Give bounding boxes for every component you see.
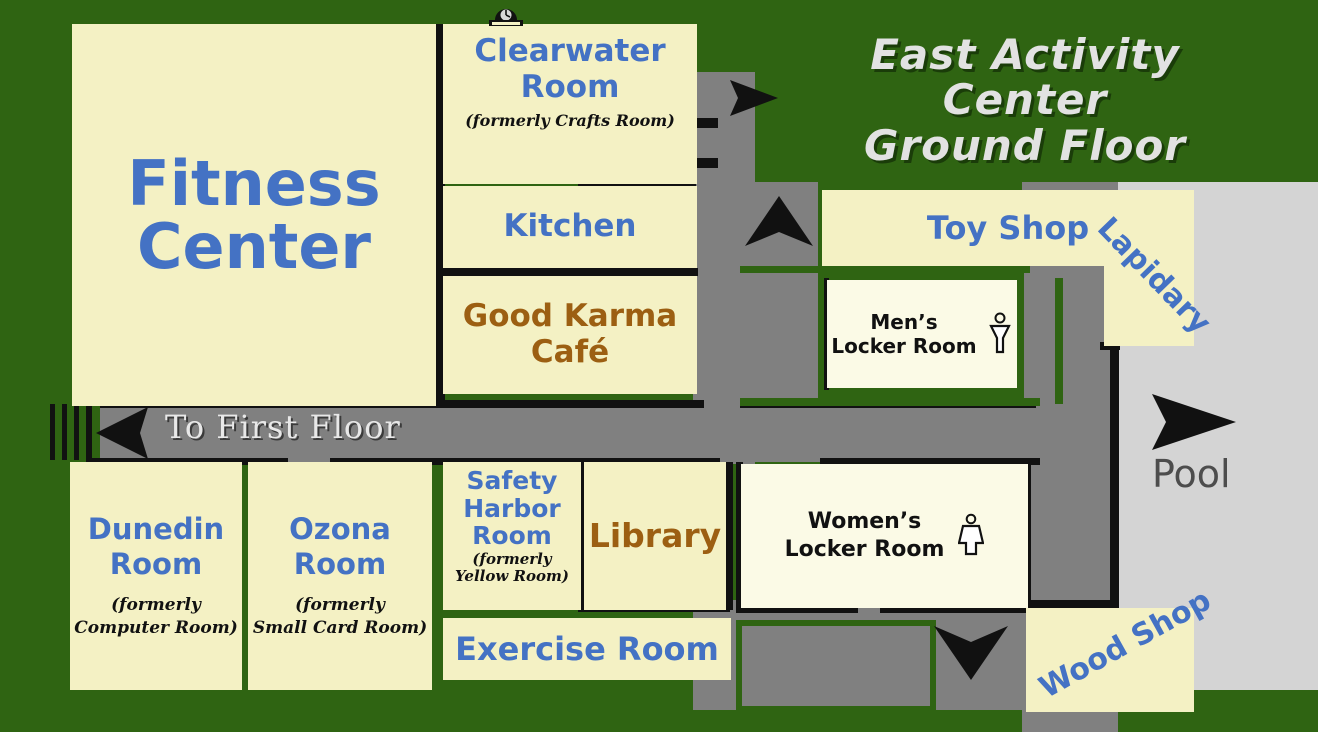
room-exercise[interactable]: Exercise Room bbox=[443, 618, 731, 680]
arrow-down-icon bbox=[934, 622, 1008, 680]
room-label-toy-shop: Toy Shop bbox=[927, 212, 1089, 245]
divider-green-south-bay bbox=[736, 620, 742, 712]
room-fitness-center[interactable]: Fitness Center bbox=[72, 24, 436, 406]
room-label-mens-line2: Locker Room bbox=[831, 336, 976, 356]
room-label-safety-line3: Room bbox=[472, 523, 552, 549]
room-label-womens-line1: Women’s bbox=[785, 511, 945, 533]
pool-label: Pool bbox=[1152, 452, 1231, 496]
divider-green-mens-right bbox=[1016, 272, 1024, 404]
floor-plan-map: Fitness Center Clearwater Room (formerly… bbox=[0, 0, 1318, 732]
map-title: East Activity Center Ground Floor bbox=[800, 32, 1250, 168]
clock-icon bbox=[487, 2, 525, 26]
room-sublabel-ozona-line1: (formerly bbox=[295, 597, 385, 614]
wall-woodshop-top bbox=[1022, 600, 1118, 608]
divider-green-lockers-col bbox=[1055, 278, 1063, 404]
room-mens-locker[interactable]: Men’s Locker Room bbox=[827, 280, 1017, 388]
room-label-clearwater-line1: Clearwater bbox=[474, 36, 665, 68]
divider-green-toyshop-bottom bbox=[740, 266, 1030, 273]
room-label-library: Library bbox=[589, 519, 721, 553]
map-title-line1: East Activity Center bbox=[800, 32, 1250, 123]
wall-library-right bbox=[726, 462, 733, 610]
stair-stroke-2 bbox=[62, 404, 67, 460]
room-label-clearwater-line2: Room bbox=[521, 72, 620, 104]
room-label-ozona-line1: Ozona bbox=[289, 515, 391, 545]
arrow-up-icon bbox=[745, 196, 813, 252]
divider-green-south-bay-top bbox=[736, 620, 936, 626]
corridor-label-to-first-floor: To First Floor bbox=[165, 408, 401, 446]
female-figure-icon bbox=[958, 513, 984, 559]
room-good-karma-cafe[interactable]: Good Karma Café bbox=[443, 276, 697, 394]
corridor-toyshop-stub bbox=[740, 272, 818, 404]
map-title-line2: Ground Floor bbox=[800, 123, 1250, 168]
male-figure-icon bbox=[987, 312, 1013, 356]
wall-kitchen-cafe-divider bbox=[440, 268, 698, 276]
wall-east-corr-right bbox=[1110, 348, 1119, 638]
stair-stroke-3 bbox=[74, 404, 79, 460]
room-sublabel-dunedin-line2: Computer Room) bbox=[74, 620, 237, 637]
room-library[interactable]: Library bbox=[584, 462, 726, 610]
room-kitchen[interactable]: Kitchen bbox=[443, 186, 697, 268]
room-label-kitchen: Kitchen bbox=[503, 211, 636, 243]
room-label-safety-line1: Safety bbox=[467, 468, 558, 494]
room-label-exercise: Exercise Room bbox=[455, 633, 719, 666]
room-label-fitness-center-line1: Fitness bbox=[127, 152, 380, 215]
room-label-cafe-line2: Café bbox=[531, 337, 609, 369]
room-label-mens-line1: Men’s bbox=[831, 312, 976, 332]
room-womens-locker[interactable]: Women’s Locker Room bbox=[741, 464, 1028, 608]
room-sublabel-clearwater: (formerly Crafts Room) bbox=[465, 113, 675, 129]
arrow-right-icon-north-exit bbox=[730, 80, 778, 116]
room-label-dunedin-line1: Dunedin bbox=[88, 515, 224, 545]
room-sublabel-safety-line1: (formerly bbox=[472, 552, 551, 567]
room-label-fitness-center-line2: Center bbox=[137, 215, 371, 278]
room-clearwater[interactable]: Clearwater Room (formerly Crafts Room) bbox=[443, 24, 697, 184]
room-label-dunedin-line2: Room bbox=[110, 550, 202, 580]
room-label-cafe-line1: Good Karma bbox=[463, 301, 677, 333]
room-label-womens-line2: Locker Room bbox=[785, 539, 945, 561]
room-label-safety-line2: Harbor bbox=[463, 496, 561, 522]
arrow-left-icon bbox=[96, 405, 186, 461]
room-label-ozona-line2: Room bbox=[294, 550, 386, 580]
stair-stroke-1 bbox=[50, 404, 55, 460]
room-sublabel-dunedin-line1: (formerly bbox=[111, 597, 201, 614]
room-sublabel-safety-line2: Yellow Room) bbox=[455, 569, 569, 584]
divider-green-bay-bottom bbox=[740, 398, 1040, 406]
room-dunedin[interactable]: Dunedin Room (formerly Computer Room) bbox=[70, 462, 242, 690]
arrow-right-icon-pool bbox=[1152, 394, 1236, 450]
room-sublabel-ozona-line2: Small Card Room) bbox=[253, 620, 427, 637]
divider-green-south-bay-bottom bbox=[736, 706, 936, 712]
room-ozona[interactable]: Ozona Room (formerly Small Card Room) bbox=[248, 462, 432, 690]
room-safety-harbor[interactable]: Safety Harbor Room (formerly Yellow Room… bbox=[443, 462, 581, 610]
